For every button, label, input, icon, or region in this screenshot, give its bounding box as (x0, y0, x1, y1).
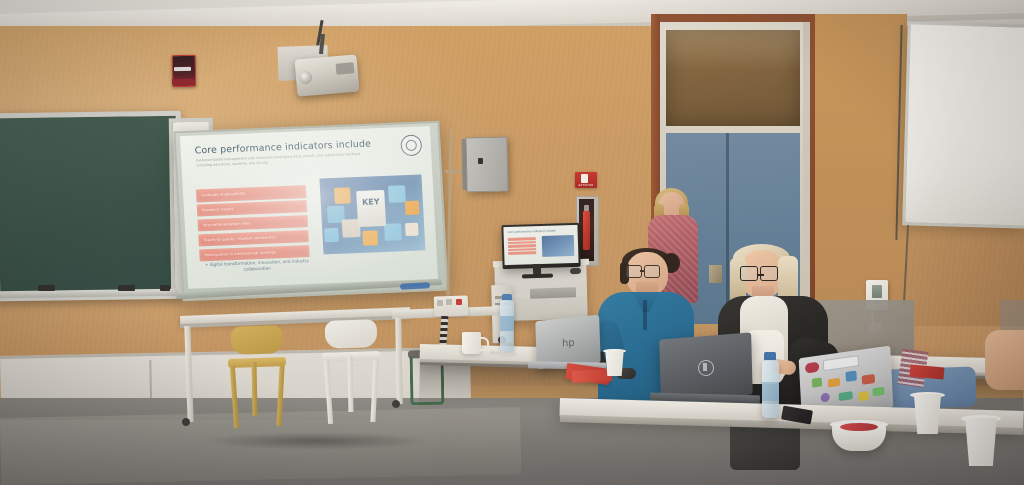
table-caster (182, 418, 190, 426)
fire-extinguisher-sign-label: EXTINTOR (575, 184, 597, 187)
woman-glasses-bridge (758, 274, 764, 276)
paper-cup[interactable] (604, 350, 625, 376)
man-glasses-bridge (640, 270, 645, 272)
slide-key-image: KEY (319, 174, 425, 254)
man-shirt-placket (643, 300, 647, 330)
fire-extinguisher-icon (581, 174, 588, 183)
monitor-bullet (508, 252, 536, 255)
eraser (38, 285, 55, 291)
tile-icon (334, 187, 351, 204)
mug-handle (479, 337, 489, 351)
dell-logo-inner (703, 363, 707, 371)
tile-icon (324, 228, 339, 243)
no-smoking-sign-label (172, 79, 194, 84)
man-glasses-right-lens-icon (644, 265, 660, 278)
tile-icon (384, 223, 402, 241)
sticker (828, 378, 840, 388)
table-caster (392, 400, 400, 408)
wall-right-segment (815, 14, 907, 314)
fire-extinguisher-valve (584, 205, 589, 211)
monitor-slide-title: Core performance indicators include (508, 229, 556, 235)
tile-icon (405, 201, 420, 216)
sticker (859, 391, 869, 401)
transom-glare (666, 30, 800, 70)
tile-icon (362, 230, 378, 246)
sticker (821, 392, 830, 402)
sticker (862, 374, 875, 385)
fire-extinguisher-body (583, 210, 590, 250)
cart-mouse[interactable] (570, 268, 581, 275)
right-attendee-arm (985, 330, 1024, 390)
sticker (805, 362, 819, 374)
university-seal-icon (400, 134, 422, 156)
outlet-socket[interactable] (437, 300, 443, 306)
classroom-photo: Core performance indicators include Evid… (0, 0, 1024, 485)
chair-leg (252, 362, 258, 416)
chalk-stick (160, 285, 170, 291)
water-bottle-label (500, 316, 514, 331)
eraser (118, 285, 135, 291)
slide-bullet-bars: Graduate employability Research impact I… (196, 185, 310, 264)
sticker (839, 391, 853, 401)
red-handouts-2[interactable] (572, 369, 613, 383)
sticker (845, 370, 856, 382)
no-smoking-cigarette-icon (174, 67, 191, 71)
slide-bullet: Teaching quality / student satisfaction (198, 230, 309, 247)
whiteboard-glare (902, 21, 1024, 222)
monitor-screen: Core performance indicators include (503, 225, 578, 265)
projector-vent (336, 62, 355, 75)
outlet-indicator (456, 299, 462, 305)
chairs-floor-shadow (200, 432, 430, 450)
hp-logo: hp (562, 338, 575, 350)
slide-bullet: Graduate employability (196, 185, 307, 202)
chair-white-back[interactable] (325, 319, 378, 349)
presentation-slide: Core performance indicators include Evid… (180, 126, 438, 289)
snack-contents (840, 423, 878, 431)
transom-rail (663, 126, 803, 133)
monitor-bullet-bars (508, 237, 537, 256)
chair-leg (348, 356, 354, 412)
keyboard[interactable] (530, 287, 576, 299)
tile-icon (405, 223, 419, 237)
panel-lock-icon[interactable] (478, 158, 483, 164)
sticker (872, 387, 884, 397)
thermostat-display (872, 285, 882, 298)
sticker (812, 377, 822, 387)
door-side-frame (803, 22, 810, 324)
outlet-socket[interactable] (446, 299, 452, 305)
key-card (356, 190, 386, 227)
chair-yellow-back[interactable] (231, 325, 284, 355)
monitor-bullet (508, 237, 536, 240)
woman-glasses-left-lens-icon (740, 266, 758, 281)
green-chalkboard (0, 111, 183, 302)
door-center-seam (726, 133, 729, 324)
slide-bullet: Research impact (197, 200, 308, 217)
water-bottle-label (762, 382, 779, 401)
door-handle[interactable] (709, 265, 722, 283)
monitor-key-image (542, 235, 575, 257)
sticker (823, 355, 859, 371)
electrical-panel (465, 137, 508, 193)
key-label: KEY (358, 197, 384, 207)
slide-bullet: Internationalisation rates (197, 215, 308, 232)
tile-icon (388, 185, 406, 203)
